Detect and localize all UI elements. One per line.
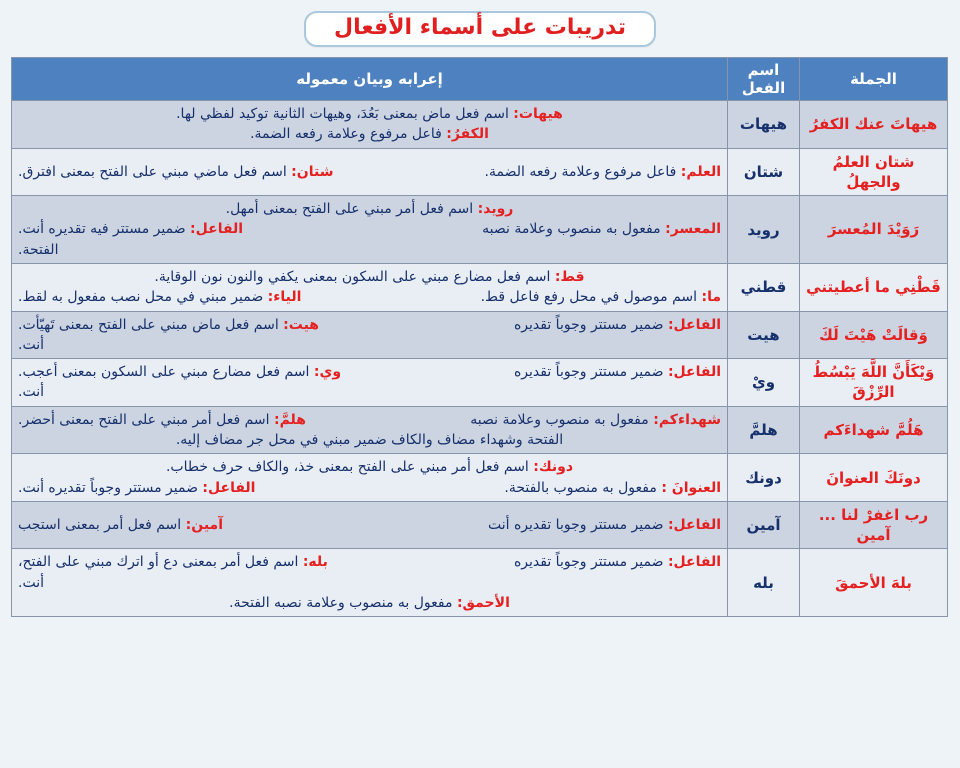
- parsing-line: الفاعل: ضمير مستتر فيه تقديره أنت.المعسر…: [18, 219, 721, 239]
- table-row: هَلُمَّ شهداءَكمهلمَّهلمَّ: اسم فعل أمر …: [12, 406, 948, 454]
- parsing-keyword: رويد:: [478, 201, 514, 217]
- parsing-text: فاعل مرفوع وعلامة رفعه الضمة.: [250, 126, 446, 142]
- parsing-segment: الفاعل: ضمير مستتر وجوباً تقديره: [514, 552, 721, 572]
- cell-verbal-noun: ويْ: [728, 359, 800, 407]
- parsing-text: اسم موصول في محل رفع فاعل قط.: [481, 289, 702, 305]
- parsing-line: آمين: اسم فعل أمر بمعنى استجبالفاعل: ضمي…: [18, 515, 721, 535]
- parsing-line: الكفرُ: فاعل مرفوع وعلامة رفعه الضمة.: [18, 124, 721, 144]
- parsing-segment: الياء: ضمير مبني في محل نصب مفعول به لقط…: [18, 287, 301, 307]
- cell-parsing: آمين: اسم فعل أمر بمعنى استجبالفاعل: ضمي…: [12, 501, 728, 549]
- table-header: الجملة اسم الفعل إعرابه وبيان معموله: [12, 58, 948, 101]
- cell-verbal-noun: آمين: [728, 501, 800, 549]
- parsing-text: اسم فعل أمر مبني على الفتح بمعنى أمهل.: [226, 201, 478, 217]
- parsing-line: الفتحة.: [18, 240, 721, 260]
- parsing-keyword: دونك:: [533, 459, 573, 475]
- parsing-line: الفاعل: ضمير مستتر وجوباً تقديره أنت.الع…: [18, 478, 721, 498]
- parsing-keyword: الكفرُ:: [446, 126, 489, 142]
- parsing-text: ضمير مبني في محل نصب مفعول به لقط.: [18, 289, 268, 305]
- cell-sentence: هَلُمَّ شهداءَكم: [800, 406, 948, 454]
- column-header-parsing: إعرابه وبيان معموله: [12, 58, 728, 101]
- cell-parsing: رويد: اسم فعل أمر مبني على الفتح بمعنى أ…: [12, 196, 728, 264]
- parsing-text: اسم فعل أمر مبني على الفتح بمعنى أحضر.: [18, 412, 274, 428]
- parsing-line: الياء: ضمير مبني في محل نصب مفعول به لقط…: [18, 287, 721, 307]
- parsing-text: اسم فعل مضارع مبني على السكون بمعنى أعجب…: [18, 364, 314, 380]
- parsing-segment: العلم: فاعل مرفوع وعلامة رفعه الضمة.: [485, 162, 721, 182]
- parsing-text: اسم فعل ماضي مبني على الفتح بمعنى افترق.: [18, 164, 291, 180]
- parsing-text: ضمير مستتر وجوباً تقديره أنت.: [18, 480, 202, 496]
- parsing-segment: هلمَّ: اسم فعل أمر مبني على الفتح بمعنى …: [18, 410, 306, 430]
- parsing-keyword: آمين:: [186, 517, 223, 533]
- parsing-keyword: هيت:: [283, 317, 319, 333]
- parsing-line: وي: اسم فعل مضارع مبني على السكون بمعنى …: [18, 362, 721, 382]
- parsing-text: مفعول به منصوب وعلامة نصبه: [482, 221, 665, 237]
- parsing-keyword: العلم:: [681, 164, 721, 180]
- header-row: الجملة اسم الفعل إعرابه وبيان معموله: [12, 58, 948, 101]
- cell-verbal-noun: بله: [728, 549, 800, 617]
- parsing-segment: الفاعل: ضمير مستتر وجوبا تقديره أنت: [488, 515, 721, 535]
- parsing-text: أنت.: [18, 337, 44, 353]
- cell-parsing: قط: اسم فعل مضارع مبني على السكون بمعنى …: [12, 263, 728, 311]
- cell-parsing: وي: اسم فعل مضارع مبني على السكون بمعنى …: [12, 359, 728, 407]
- cell-sentence: هيهاتَ عنك الكفرُ: [800, 101, 948, 149]
- parsing-text: اسم فعل مضارع مبني على السكون بمعنى يكفي…: [154, 269, 554, 285]
- parsing-text: الفتحة.: [18, 242, 58, 258]
- parsing-text: أنت.: [18, 575, 44, 591]
- column-header-sentence: الجملة: [800, 58, 948, 101]
- parsing-text: اسم فعل ماض بمعنى بَعُدَ، وهيهات الثانية…: [176, 106, 513, 122]
- parsing-text: مفعول به منصوب وعلامة نصبه الفتحة.: [229, 595, 457, 611]
- cell-sentence: بلهَ الأحمقَ: [800, 549, 948, 617]
- parsing-segment: الفاعل: ضمير مستتر وجوباً تقديره أنت.: [18, 478, 255, 498]
- parsing-text: فاعل مرفوع وعلامة رفعه الضمة.: [485, 164, 681, 180]
- parsing-segment: هيت: اسم فعل ماض مبني على الفتح بمعنى تَ…: [18, 315, 319, 335]
- parsing-text: مفعول به منصوب وعلامة نصبه: [470, 412, 653, 428]
- parsing-keyword: الفاعل:: [668, 364, 721, 380]
- parsing-line: أنت.: [18, 573, 721, 593]
- parsing-keyword: شتان:: [291, 164, 333, 180]
- parsing-line: هيهات: اسم فعل ماض بمعنى بَعُدَ، وهيهات …: [18, 104, 721, 124]
- parsing-keyword: الياء:: [268, 289, 302, 305]
- parsing-keyword: هلمَّ:: [274, 412, 306, 428]
- cell-verbal-noun: شتان: [728, 148, 800, 196]
- parsing-segment: شهداءكم: مفعول به منصوب وعلامة نصبه: [470, 410, 721, 430]
- table-body: هيهاتَ عنك الكفرُهيهاتهيهات: اسم فعل ماض…: [12, 101, 948, 617]
- parsing-keyword: الفاعل:: [668, 317, 721, 333]
- parsing-keyword: قط:: [555, 269, 585, 285]
- table-row: شتان العلمُ والجهلُشتانشتان: اسم فعل ماض…: [12, 148, 948, 196]
- parsing-text: ضمير مستتر وجوباً تقديره: [514, 364, 668, 380]
- parsing-segment: العنوانَ : مفعول به منصوب بالفتحة.: [504, 478, 721, 498]
- table-row: رَوَيْدَ المُعسرَرويدرويد: اسم فعل أمر م…: [12, 196, 948, 264]
- table-row: رب اغفرْ لنا ... آمينآمينآمين: اسم فعل أ…: [12, 501, 948, 549]
- parsing-keyword: هيهات:: [513, 106, 563, 122]
- cell-parsing: دونك: اسم فعل أمر مبني على الفتح بمعنى خ…: [12, 454, 728, 502]
- parsing-keyword: ما:: [701, 289, 721, 305]
- parsing-segment: آمين: اسم فعل أمر بمعنى استجب: [18, 515, 223, 535]
- parsing-line: هلمَّ: اسم فعل أمر مبني على الفتح بمعنى …: [18, 410, 721, 430]
- parsing-text: ضمير مستتر وجوبا تقديره أنت: [488, 517, 668, 533]
- table-row: بلهَ الأحمقَبلهبله: اسم فعل أمر بمعنى دع…: [12, 549, 948, 617]
- parsing-text: أنت.: [18, 384, 44, 400]
- grammar-table: الجملة اسم الفعل إعرابه وبيان معموله هيه…: [11, 57, 948, 617]
- table-row: وَيْكَأَنَّ اللَّهَ يَبْسُطُ الرِّزْقَوي…: [12, 359, 948, 407]
- parsing-segment: المعسر: مفعول به منصوب وعلامة نصبه: [482, 219, 721, 239]
- parsing-text: اسم فعل أمر بمعنى استجب: [18, 517, 186, 533]
- cell-verbal-noun: قطني: [728, 263, 800, 311]
- table-row: قَطْنِي ما أعطيتنيقطنيقط: اسم فعل مضارع …: [12, 263, 948, 311]
- page-title: تدريبات على أسماء الأفعال: [334, 17, 626, 39]
- cell-sentence: رب اغفرْ لنا ... آمين: [800, 501, 948, 549]
- parsing-text: ضمير مستتر فيه تقديره أنت.: [18, 221, 190, 237]
- parsing-segment: بله: اسم فعل أمر بمعنى دع أو اترك مبني ع…: [18, 552, 328, 572]
- cell-parsing: هيت: اسم فعل ماض مبني على الفتح بمعنى تَ…: [12, 311, 728, 359]
- parsing-text: مفعول به منصوب بالفتحة.: [504, 480, 661, 496]
- title-container: تدريبات على أسماء الأفعال: [0, 0, 960, 57]
- cell-sentence: وَقالَتْ هَيْتَ لَكَ: [800, 311, 948, 359]
- parsing-keyword: المعسر:: [665, 221, 721, 237]
- parsing-keyword: الفاعل:: [202, 480, 255, 496]
- cell-verbal-noun: دونك: [728, 454, 800, 502]
- parsing-keyword: وي:: [314, 364, 341, 380]
- parsing-line: شتان: اسم فعل ماضي مبني على الفتح بمعنى …: [18, 162, 721, 182]
- parsing-line: قط: اسم فعل مضارع مبني على السكون بمعنى …: [18, 267, 721, 287]
- parsing-line: هيت: اسم فعل ماض مبني على الفتح بمعنى تَ…: [18, 315, 721, 335]
- parsing-line: رويد: اسم فعل أمر مبني على الفتح بمعنى أ…: [18, 199, 721, 219]
- parsing-line: أنت.: [18, 382, 721, 402]
- parsing-line: الفتحة وشهداء مضاف والكاف ضمير مبني في م…: [18, 430, 721, 450]
- parsing-text: اسم فعل أمر بمعنى دع أو اترك مبني على ال…: [18, 554, 303, 570]
- table-row: هيهاتَ عنك الكفرُهيهاتهيهات: اسم فعل ماض…: [12, 101, 948, 149]
- cell-sentence: قَطْنِي ما أعطيتني: [800, 263, 948, 311]
- page-root: تدريبات على أسماء الأفعال الجملة اسم الف…: [0, 0, 960, 768]
- cell-verbal-noun: هيت: [728, 311, 800, 359]
- cell-parsing: بله: اسم فعل أمر بمعنى دع أو اترك مبني ع…: [12, 549, 728, 617]
- parsing-segment: شتان: اسم فعل ماضي مبني على الفتح بمعنى …: [18, 162, 333, 182]
- parsing-keyword: شهداءكم:: [653, 412, 721, 428]
- parsing-line: الأحمق: مفعول به منصوب وعلامة نصبه الفتح…: [18, 593, 721, 613]
- title-box: تدريبات على أسماء الأفعال: [304, 11, 656, 47]
- cell-sentence: رَوَيْدَ المُعسرَ: [800, 196, 948, 264]
- cell-parsing: شتان: اسم فعل ماضي مبني على الفتح بمعنى …: [12, 148, 728, 196]
- cell-sentence: وَيْكَأَنَّ اللَّهَ يَبْسُطُ الرِّزْقَ: [800, 359, 948, 407]
- cell-sentence: دونَكَ العنوانَ: [800, 454, 948, 502]
- parsing-text: اسم فعل أمر مبني على الفتح بمعنى خذ، وال…: [166, 459, 533, 475]
- parsing-text: الفتحة وشهداء مضاف والكاف ضمير مبني في م…: [176, 432, 563, 448]
- parsing-keyword: الأحمق:: [457, 595, 510, 611]
- cell-parsing: هلمَّ: اسم فعل أمر مبني على الفتح بمعنى …: [12, 406, 728, 454]
- parsing-text: اسم فعل ماض مبني على الفتح بمعنى تَهيّأت…: [18, 317, 283, 333]
- parsing-keyword: الفاعل:: [668, 517, 721, 533]
- parsing-segment: ما: اسم موصول في محل رفع فاعل قط.: [481, 287, 721, 307]
- cell-sentence: شتان العلمُ والجهلُ: [800, 148, 948, 196]
- parsing-segment: الفاعل: ضمير مستتر وجوباً تقديره: [514, 315, 721, 335]
- parsing-keyword: بله:: [303, 554, 328, 570]
- parsing-line: أنت.: [18, 335, 721, 355]
- parsing-keyword: الفاعل:: [190, 221, 243, 237]
- cell-verbal-noun: هيهات: [728, 101, 800, 149]
- parsing-text: ضمير مستتر وجوباً تقديره: [514, 554, 668, 570]
- column-header-verbal-noun: اسم الفعل: [728, 58, 800, 101]
- parsing-text: ضمير مستتر وجوباً تقديره: [514, 317, 668, 333]
- table-row: وَقالَتْ هَيْتَ لَكَهيتهيت: اسم فعل ماض …: [12, 311, 948, 359]
- parsing-segment: وي: اسم فعل مضارع مبني على السكون بمعنى …: [18, 362, 341, 382]
- cell-verbal-noun: هلمَّ: [728, 406, 800, 454]
- cell-verbal-noun: رويد: [728, 196, 800, 264]
- parsing-segment: الفاعل: ضمير مستتر وجوباً تقديره: [514, 362, 721, 382]
- parsing-segment: الفاعل: ضمير مستتر فيه تقديره أنت.: [18, 219, 243, 239]
- table-row: دونَكَ العنوانَدونكدونك: اسم فعل أمر مبن…: [12, 454, 948, 502]
- cell-parsing: هيهات: اسم فعل ماض بمعنى بَعُدَ، وهيهات …: [12, 101, 728, 149]
- parsing-line: بله: اسم فعل أمر بمعنى دع أو اترك مبني ع…: [18, 552, 721, 572]
- parsing-line: دونك: اسم فعل أمر مبني على الفتح بمعنى خ…: [18, 457, 721, 477]
- parsing-keyword: الفاعل:: [668, 554, 721, 570]
- parsing-keyword: العنوانَ :: [661, 480, 721, 496]
